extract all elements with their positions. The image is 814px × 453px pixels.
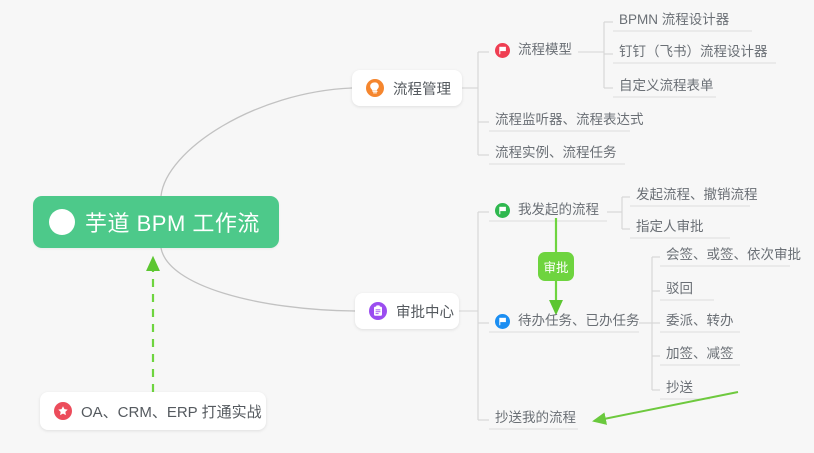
star-icon: [54, 402, 72, 420]
root-label: 芋道 BPM 工作流: [85, 206, 260, 238]
mindmap-canvas: 芋道 BPM 工作流 流程管理 流程模型 BPMN 流程设计器 钉钉（飞书）流程…: [0, 0, 814, 453]
leaf-reject[interactable]: 驳回: [660, 281, 699, 302]
lightbulb-icon: [366, 79, 384, 97]
node-process-model-label: 流程模型: [518, 42, 572, 58]
leaf-dingtalk-designer[interactable]: 钉钉（飞书）流程设计器: [613, 44, 774, 65]
leaf-cc[interactable]: 抄送: [660, 380, 699, 401]
node-integration-practice[interactable]: OA、CRM、ERP 打通实战: [40, 392, 266, 430]
branch-process-management-label: 流程管理: [393, 78, 451, 99]
leaf-cc-to-me-processes[interactable]: 抄送我的流程: [489, 410, 582, 431]
node-todo-done-tasks[interactable]: 待办任务、已办任务: [489, 313, 646, 333]
leaf-start-cancel-process[interactable]: 发起流程、撤销流程: [630, 187, 764, 208]
node-integration-practice-label: OA、CRM、ERP 打通实战: [81, 401, 262, 422]
branch-approval-center-label: 审批中心: [396, 301, 454, 322]
leaf-add-remove-sign[interactable]: 加签、减签: [660, 346, 740, 367]
flag-icon: [495, 314, 510, 329]
leaf-bpmn-designer[interactable]: BPMN 流程设计器: [613, 12, 735, 33]
leaf-assignee-approval[interactable]: 指定人审批: [630, 219, 710, 240]
node-process-model[interactable]: 流程模型: [489, 42, 578, 62]
approve-tag: 审批: [538, 252, 574, 281]
clipboard-icon: [369, 302, 387, 320]
node-my-started-processes[interactable]: 我发起的流程: [489, 202, 605, 222]
thumbs-up-icon: [49, 209, 75, 235]
branch-approval-center[interactable]: 审批中心: [355, 293, 459, 329]
leaf-process-listener[interactable]: 流程监听器、流程表达式: [489, 112, 650, 133]
flag-icon: [495, 203, 510, 218]
leaf-delegate-transfer[interactable]: 委派、转办: [660, 313, 740, 334]
node-todo-done-tasks-label: 待办任务、已办任务: [518, 313, 640, 329]
branch-process-management[interactable]: 流程管理: [352, 70, 462, 106]
flag-icon: [495, 43, 510, 58]
leaf-countersign[interactable]: 会签、或签、依次审批: [660, 247, 807, 268]
leaf-process-instance[interactable]: 流程实例、流程任务: [489, 145, 623, 166]
leaf-custom-form[interactable]: 自定义流程表单: [613, 78, 720, 99]
node-my-started-processes-label: 我发起的流程: [518, 202, 599, 218]
root-node[interactable]: 芋道 BPM 工作流: [33, 196, 279, 248]
